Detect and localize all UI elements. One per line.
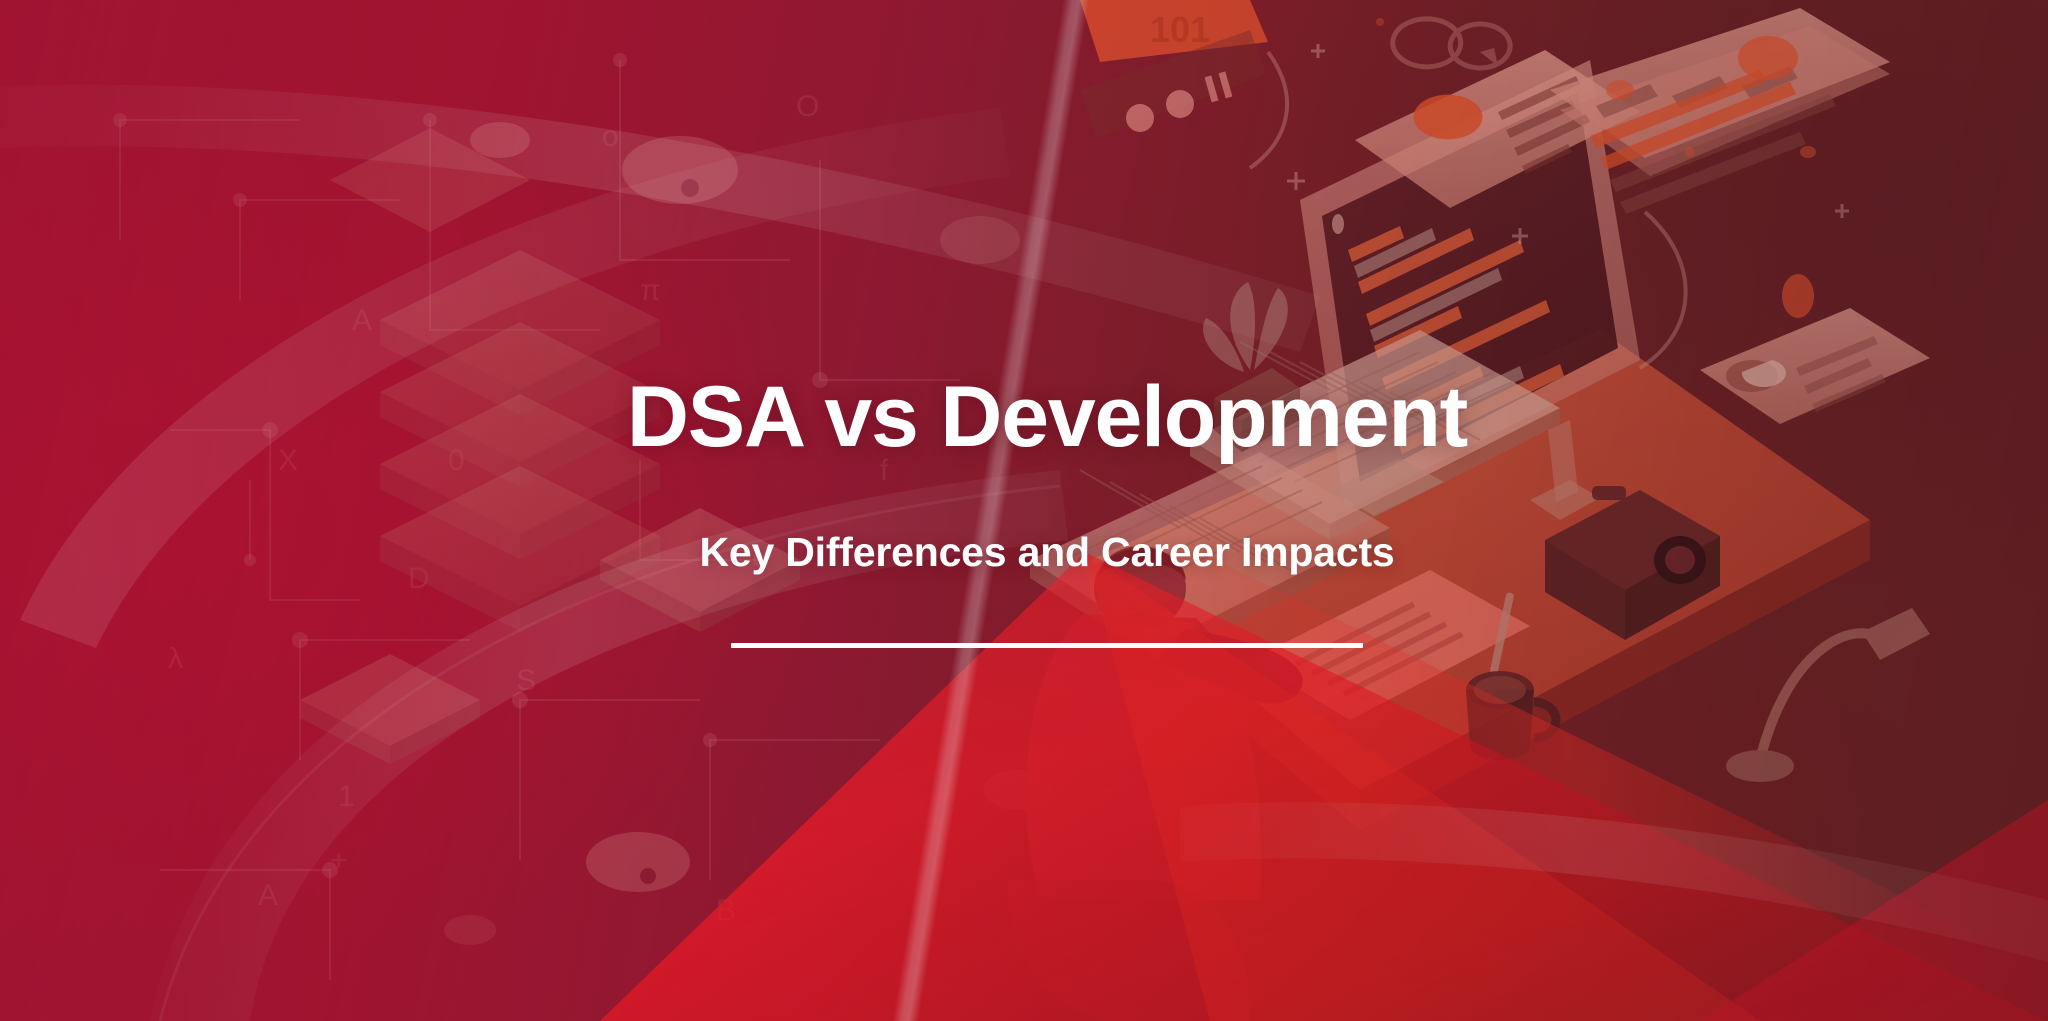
hero-banner: AD Xλ 0S A1 Oo B+ πf	[0, 0, 2048, 1021]
banner-content: DSA vs Development Key Differences and C…	[0, 0, 2048, 1021]
banner-title: DSA vs Development	[627, 373, 1467, 462]
banner-subtitle: Key Differences and Career Impacts	[699, 529, 1394, 576]
title-divider-rule	[731, 643, 1363, 648]
